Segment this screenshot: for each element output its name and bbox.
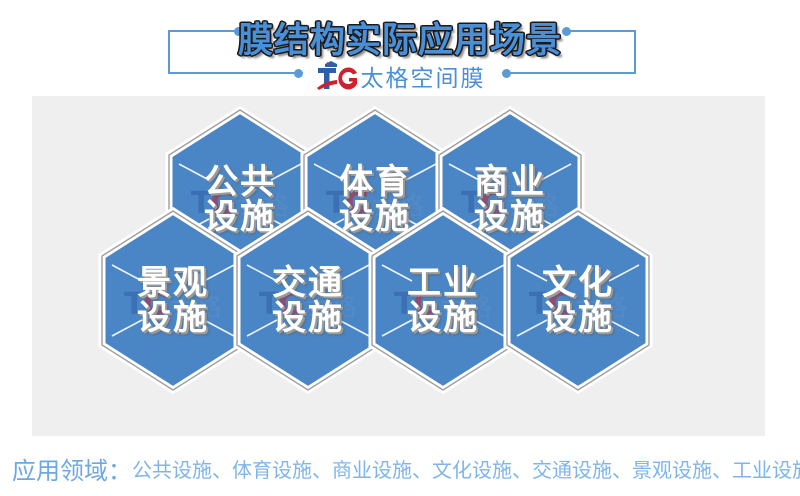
- tg-logo-icon: [315, 61, 359, 91]
- content-panel: TG太格公共设施TG太格体育设施TG太格商业设施TG太格景观设施TG太格交通设施…: [32, 96, 765, 436]
- caption-list: 公共设施、体育设施、商业设施、文化设施、交通设施、景观设施、工业设施等: [132, 454, 800, 483]
- hexagon-label: 交通设施: [233, 207, 383, 394]
- hexagon-label-line1: 交通: [272, 266, 344, 301]
- hexagon-cultural-facilities[interactable]: TG太格文化设施: [503, 207, 653, 394]
- page-title: 膜结构实际应用场景: [0, 12, 800, 63]
- hexagon-landscape-facilities[interactable]: TG太格景观设施: [98, 207, 248, 394]
- hexagon-label-line1: 工业: [407, 266, 479, 301]
- hexagon-label: 工业设施: [368, 207, 518, 394]
- hexagon-label-line2: 设施: [272, 301, 344, 336]
- hexagon-label-line2: 设施: [137, 301, 209, 336]
- hexagon-label-line2: 设施: [542, 301, 614, 336]
- hexagon-label: 景观设施: [98, 207, 248, 394]
- hexagon-industrial-facilities[interactable]: TG太格工业设施: [368, 207, 518, 394]
- hexagon-label-line1: 文化: [542, 266, 614, 301]
- hexagon-label: 文化设施: [503, 207, 653, 394]
- hexagon-transport-facilities[interactable]: TG太格交通设施: [233, 207, 383, 394]
- brand-name: 太格空间膜: [361, 59, 486, 93]
- page-header: 膜结构实际应用场景 太格空间膜: [0, 0, 800, 96]
- hexagon-grid: TG太格公共设施TG太格体育设施TG太格商业设施TG太格景观设施TG太格交通设施…: [32, 96, 765, 436]
- hexagon-label-line1: 商业: [474, 165, 546, 200]
- hexagon-label-line1: 体育: [339, 165, 411, 200]
- caption-lead: 应用领域：: [12, 451, 132, 486]
- brand-logo: 太格空间膜: [0, 60, 800, 92]
- hexagon-label-line2: 设施: [407, 301, 479, 336]
- caption-bar: 应用领域： 公共设施、体育设施、商业设施、文化设施、交通设施、景观设施、工业设施…: [0, 440, 800, 496]
- hexagon-label-line1: 公共: [204, 165, 276, 200]
- hexagon-label-line1: 景观: [137, 266, 209, 301]
